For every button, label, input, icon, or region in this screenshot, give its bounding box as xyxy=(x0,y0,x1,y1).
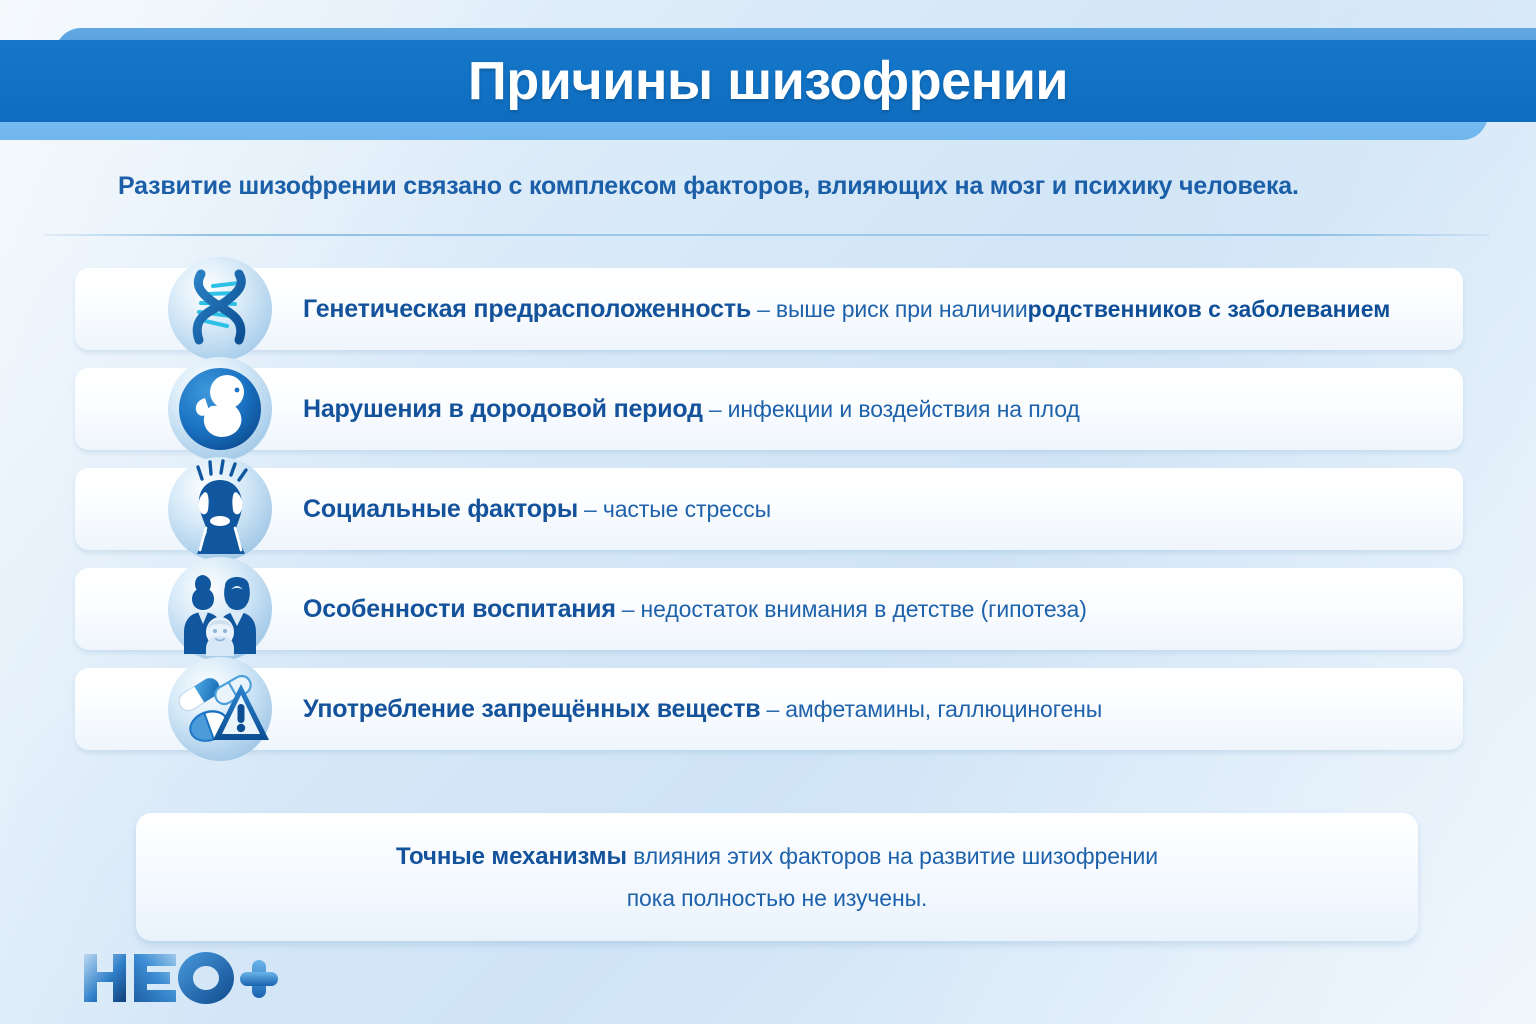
factor-desc: недостаток внимания в детстве (гипотеза) xyxy=(641,596,1087,623)
page-title: Причины шизофрении xyxy=(0,38,1536,124)
list-item[interactable]: Особенности воспитания – недостаток вним… xyxy=(75,568,1465,650)
factor-text: Социальные факторы – частые стрессы xyxy=(303,468,771,550)
note-line-2: пока полностью не изучены. xyxy=(627,885,928,912)
factor-term: Особенности воспитания xyxy=(303,595,616,624)
list-item[interactable]: Социальные факторы – частые стрессы xyxy=(75,468,1465,550)
neo-plus-logo xyxy=(80,948,280,1008)
note-rest-text: влияния этих факторов на развитие шизофр… xyxy=(627,843,1158,869)
dna-helix-icon xyxy=(165,254,275,364)
note-strong-text: Точные механизмы xyxy=(396,843,627,870)
factor-text: Особенности воспитания – недостаток вним… xyxy=(303,568,1087,650)
stressed-person-icon xyxy=(165,454,275,564)
factor-desc-accent: родственников с заболеванием xyxy=(1028,296,1391,323)
note-line-1: Точные механизмы влияния этих факторов н… xyxy=(396,843,1158,871)
factor-desc: частые стрессы xyxy=(603,496,771,523)
list-item[interactable]: Употребление запрещённых веществ – амфет… xyxy=(75,668,1465,750)
factor-dash: – xyxy=(578,496,603,523)
section-divider xyxy=(44,234,1490,236)
list-item[interactable]: Генетическая предрасположенность – выше … xyxy=(75,268,1465,350)
factor-dash: – xyxy=(616,596,641,623)
factor-dash: – xyxy=(703,396,728,423)
factor-text: Нарушения в дородовой период – инфекции … xyxy=(303,368,1080,450)
factor-desc: выше риск при наличии xyxy=(776,296,1028,323)
page-header: Причины шизофрении xyxy=(0,0,1536,145)
conclusion-note: Точные механизмы влияния этих факторов н… xyxy=(136,813,1418,941)
factor-term: Нарушения в дородовой период xyxy=(303,395,703,424)
list-item[interactable]: Нарушения в дородовой период – инфекции … xyxy=(75,368,1465,450)
factor-term: Употребление запрещённых веществ xyxy=(303,695,760,724)
factor-dash: – xyxy=(760,696,785,723)
pills-warning-icon xyxy=(165,654,275,764)
subtitle-text: Развитие шизофрении связано с комплексом… xyxy=(118,172,1458,201)
factor-text: Генетическая предрасположенность – выше … xyxy=(303,268,1390,350)
factor-list: Генетическая предрасположенность – выше … xyxy=(75,268,1465,768)
factor-dash: – xyxy=(751,296,776,323)
factor-desc: инфекции и воздействия на плод xyxy=(728,396,1080,423)
factor-text: Употребление запрещённых веществ – амфет… xyxy=(303,668,1102,750)
factor-term: Генетическая предрасположенность xyxy=(303,295,751,324)
fetus-icon xyxy=(165,354,275,464)
family-icon xyxy=(165,554,275,664)
factor-term: Социальные факторы xyxy=(303,495,578,524)
factor-desc: амфетамины, галлюциногены xyxy=(785,696,1102,723)
